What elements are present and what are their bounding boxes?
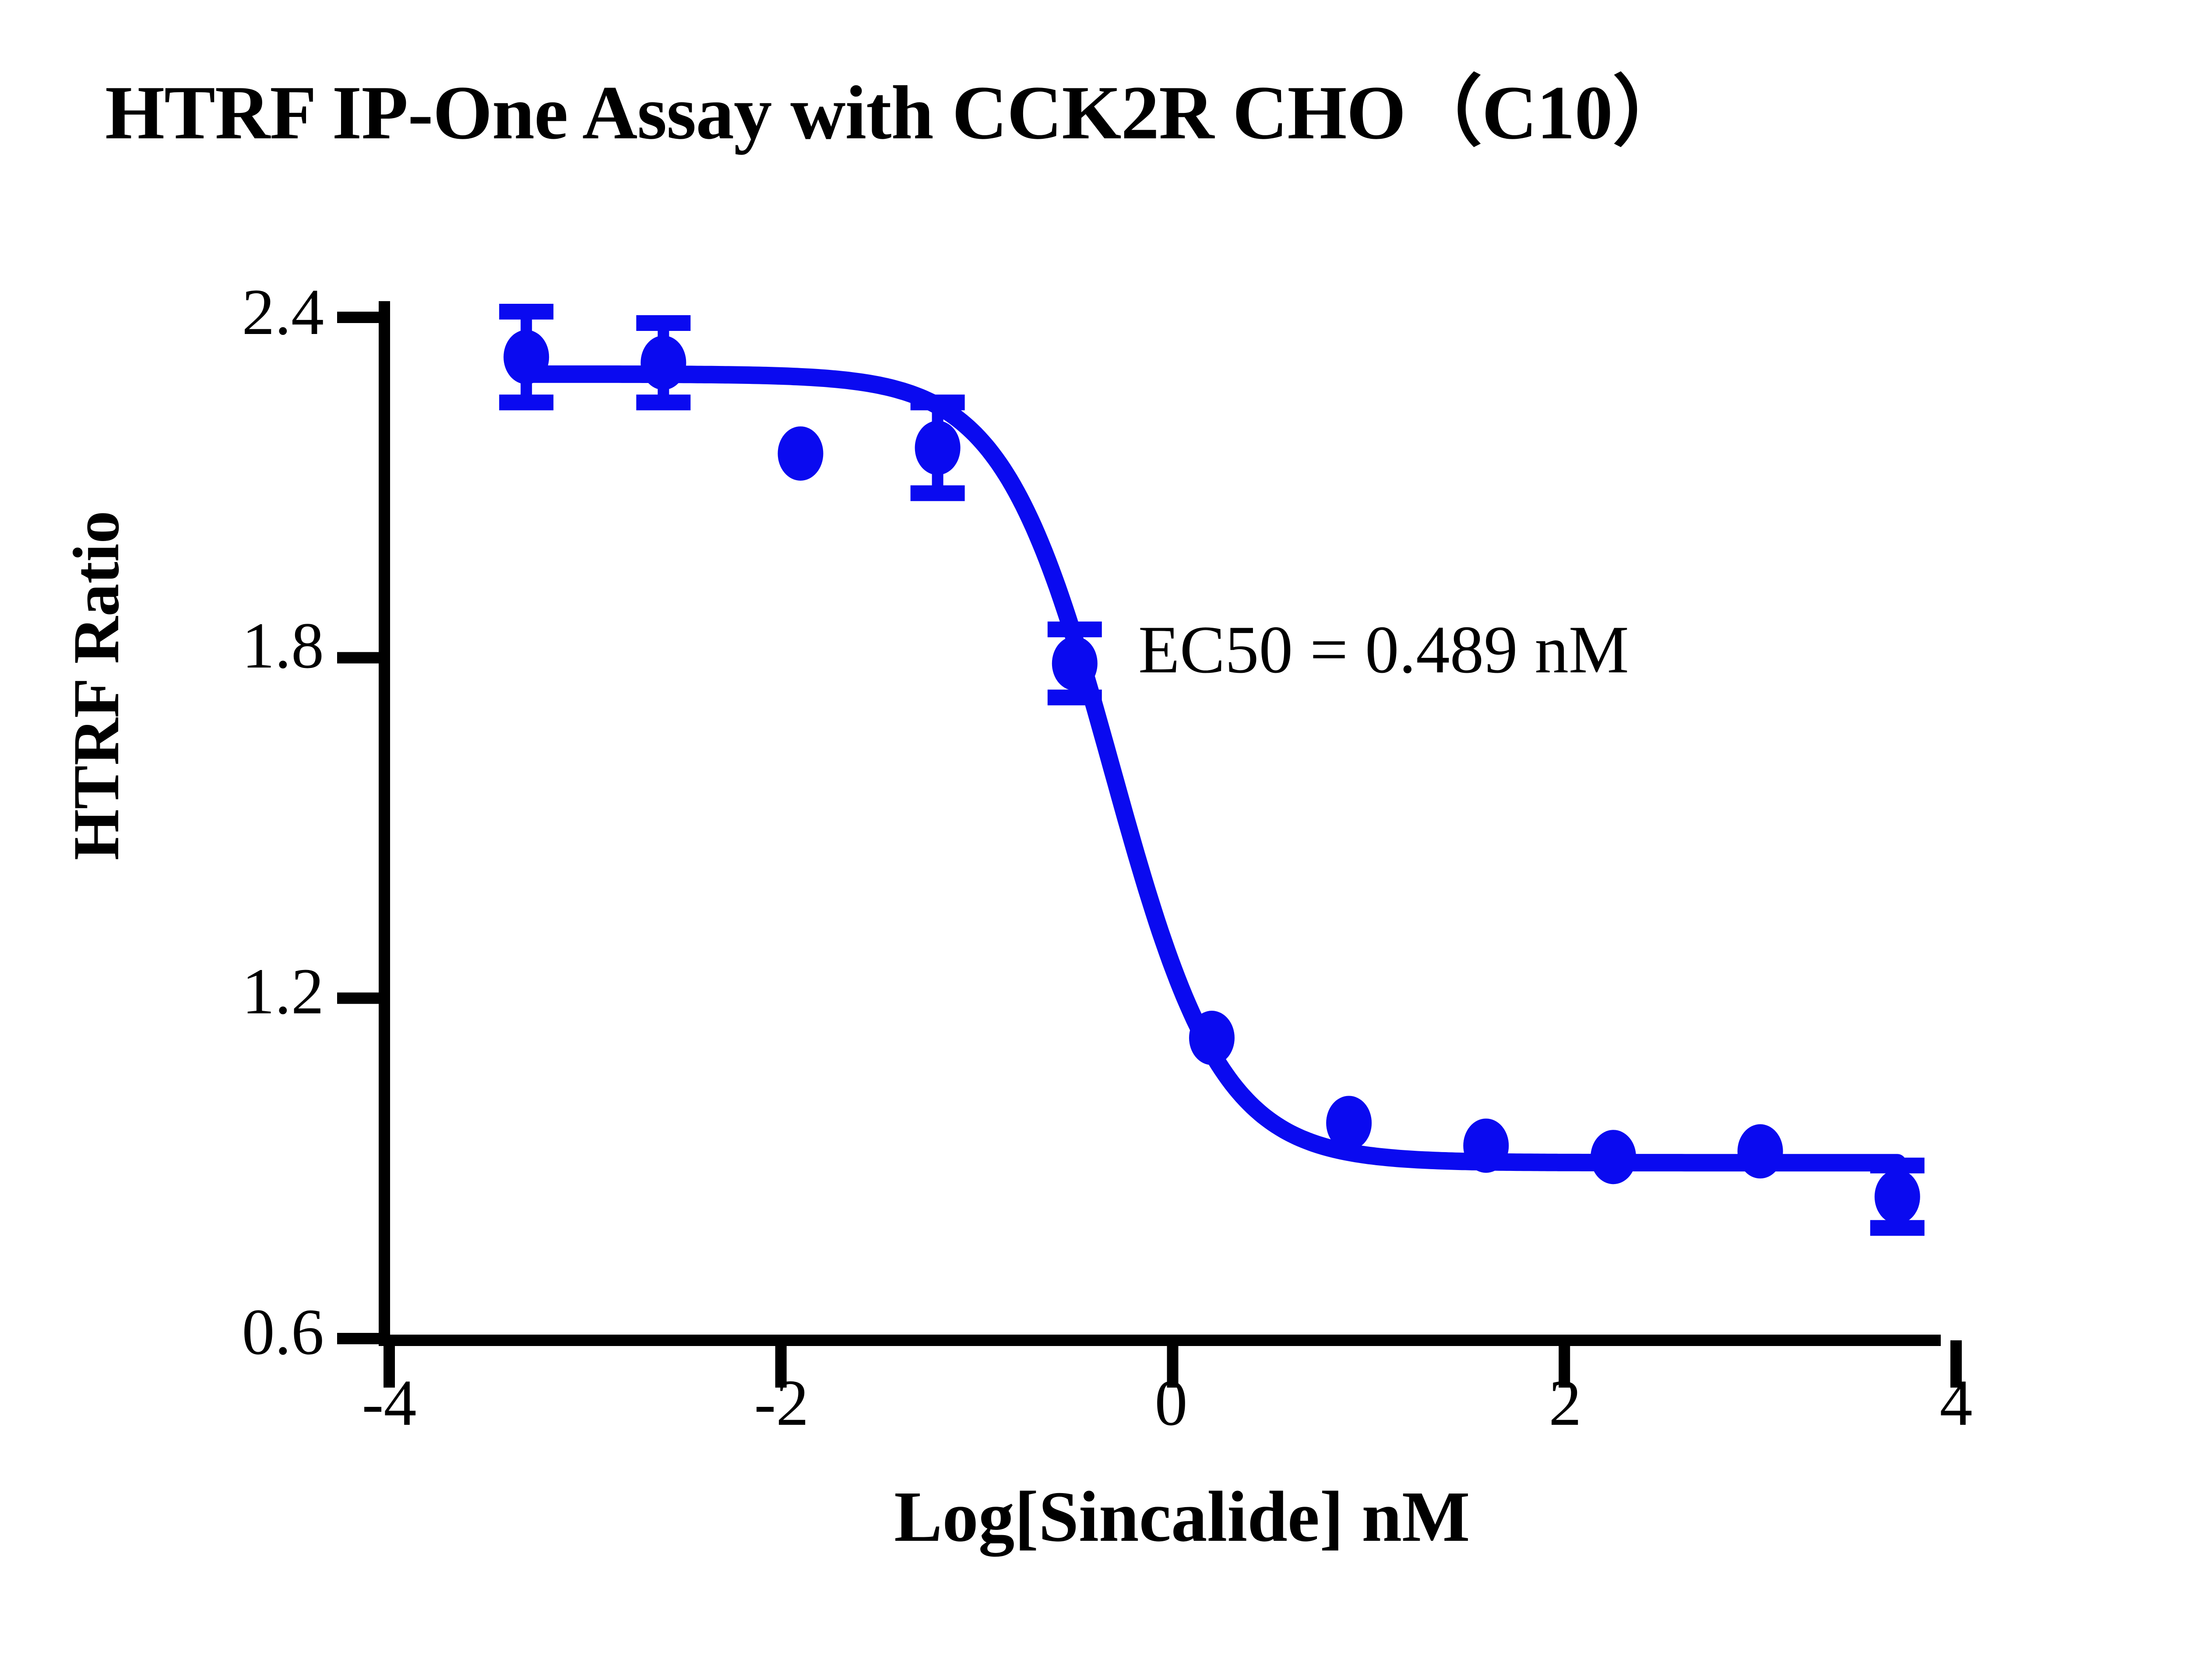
data-point (1189, 1011, 1235, 1065)
data-point (1591, 1130, 1636, 1184)
data-points (503, 330, 1920, 1224)
axis-lines (337, 301, 1956, 1388)
data-point (915, 421, 961, 475)
y-axis-ticks (337, 317, 384, 1339)
data-point (1738, 1124, 1783, 1178)
data-point (1463, 1118, 1509, 1173)
data-point (503, 330, 549, 384)
data-point (778, 426, 823, 481)
plot-area (0, 0, 2189, 1680)
data-point (1326, 1096, 1372, 1150)
chart-figure: HTRF IP-One Assay with CCK2R CHO（C10） HT… (0, 0, 2189, 1680)
data-point (1875, 1170, 1920, 1224)
error-bars (499, 312, 1925, 1228)
x-axis-ticks (389, 1340, 1956, 1388)
data-point (1052, 636, 1098, 691)
data-point (641, 336, 686, 390)
